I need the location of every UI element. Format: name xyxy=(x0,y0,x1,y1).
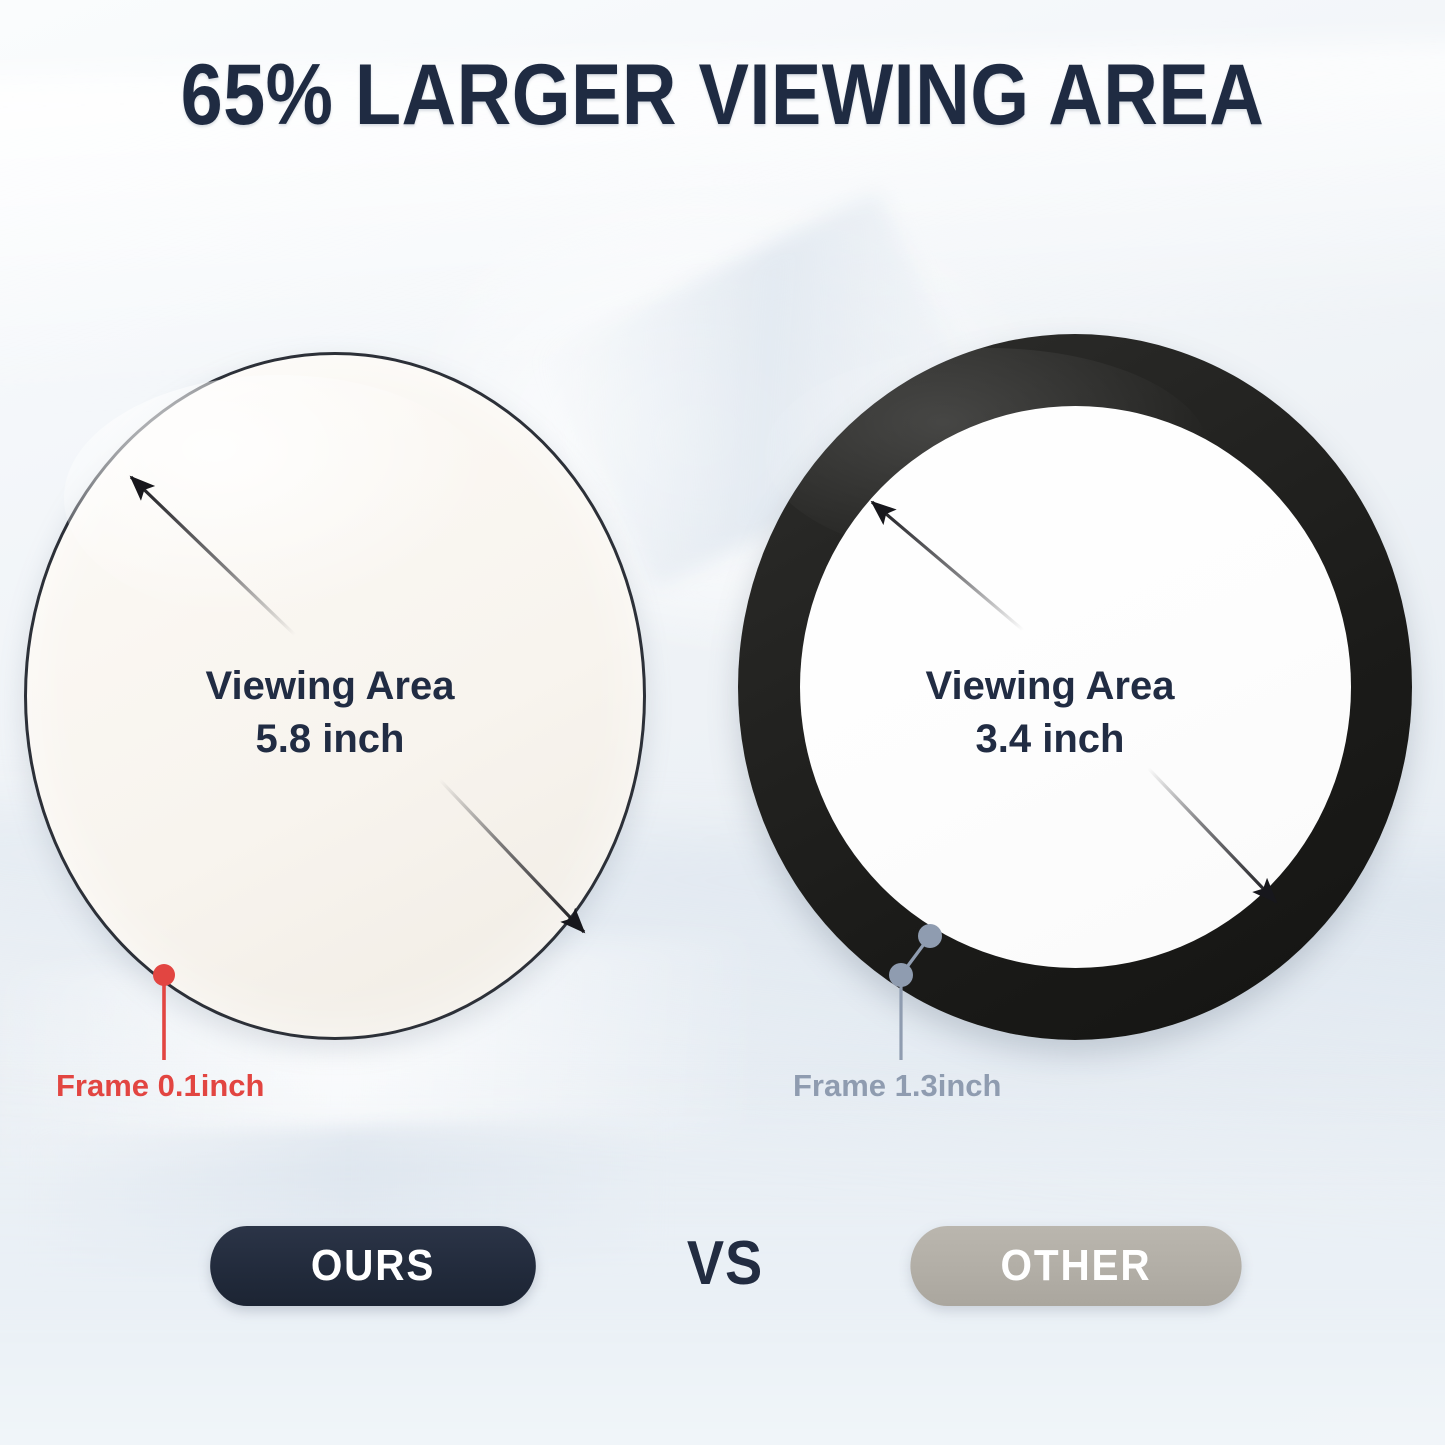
other-badge: OTHER xyxy=(910,1226,1241,1306)
other-viewing-area-label: Viewing Area 3.4 inch xyxy=(840,660,1260,766)
versus-label: VS xyxy=(649,1228,802,1299)
ours-viewing-area-label: Viewing Area 5.8 inch xyxy=(120,660,540,766)
page-title: 65% LARGER VIEWING AREA xyxy=(87,52,1359,138)
other-frame-thickness-label: Frame 1.3inch xyxy=(793,1068,1001,1104)
ours-frame-thickness-label: Frame 0.1inch xyxy=(56,1068,264,1104)
ours-badge: OURS xyxy=(210,1226,536,1306)
comparison-infographic: 65% LARGER VIEWING AREA xyxy=(0,0,1445,1445)
